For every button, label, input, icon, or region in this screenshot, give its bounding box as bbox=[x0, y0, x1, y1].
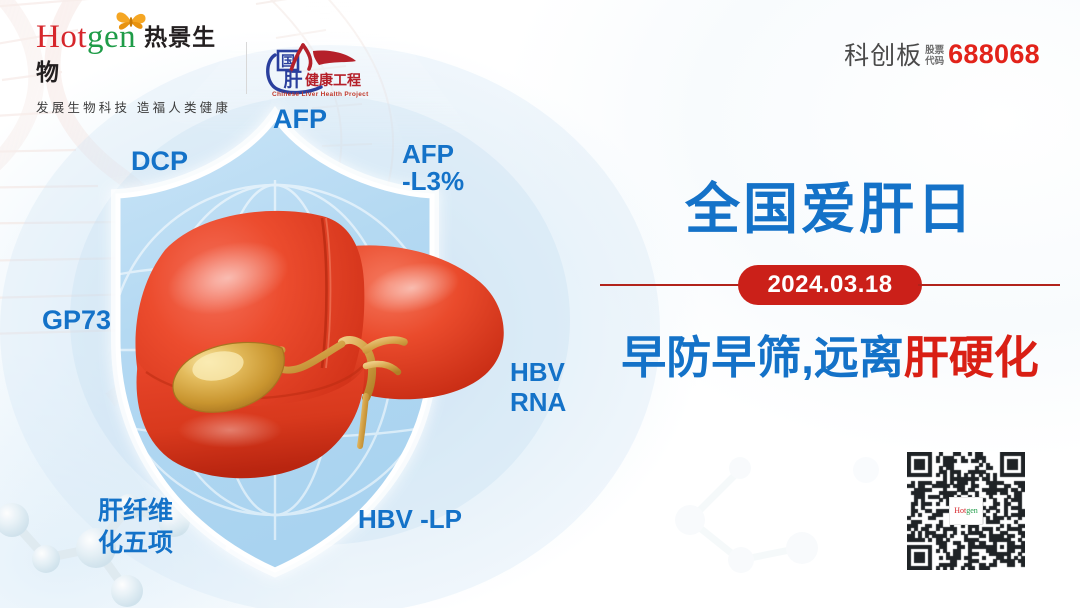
marker-fibrosis-label: 肝纤维 化五项 bbox=[98, 495, 173, 559]
marker-fibrosis-line1: 肝纤维 bbox=[98, 497, 173, 525]
liver-illustration bbox=[135, 211, 503, 478]
liver-highlight-bottom bbox=[178, 412, 282, 448]
brand-slogan: 发展生物科技 造福人类健康 bbox=[36, 97, 236, 116]
date-line-right bbox=[918, 284, 1060, 286]
stock-caption-line2: 代码 bbox=[925, 56, 944, 67]
marker-afp-l3-line1: AFP bbox=[402, 139, 454, 169]
qr-code[interactable]: Hotgen bbox=[907, 452, 1025, 570]
stock-code-caption: 股票 代码 bbox=[925, 42, 944, 67]
hotgen-hot-text: Hot bbox=[36, 19, 87, 55]
partner-logo[interactable]: 国 肝 健康工程 Chinese Liver Health Project bbox=[263, 39, 363, 97]
stock-board-label: 科创板 bbox=[844, 36, 922, 72]
hotgen-logo: Hotgen热景生物 发展生物科技 造福人类健康 bbox=[36, 20, 236, 116]
main-content: 全国爱肝日 2024.03.18 早防早筛,远离肝硬化 bbox=[600, 160, 1060, 420]
liver-health-project-icon: 国 肝 健康工程 bbox=[263, 39, 363, 97]
page-subtitle: 早防早筛,远离肝硬化 bbox=[600, 335, 1060, 380]
date-line-left bbox=[600, 284, 742, 286]
marker-hbv-lp-label: HBV -LP bbox=[358, 505, 462, 534]
date-badge: 2024.03.18 bbox=[738, 265, 922, 305]
qr-logo-hot: Hot bbox=[954, 506, 966, 515]
marker-gp73-label: GP73 bbox=[42, 305, 111, 335]
marker-hbv-rna-label: HBV RNA bbox=[510, 358, 566, 418]
marker-hbv-rna-line2: RNA bbox=[510, 387, 566, 417]
marker-afp-l3-label: AFP -L3% bbox=[402, 141, 464, 196]
marker-hbv-rna-line1: HBV bbox=[510, 357, 565, 387]
logo-divider bbox=[246, 42, 247, 94]
qr-center-logo: Hotgen bbox=[950, 498, 982, 524]
stock-code-number: 688068 bbox=[948, 39, 1040, 70]
page-title: 全国爱肝日 bbox=[600, 182, 1060, 237]
molecule-faint-icon bbox=[675, 457, 879, 573]
brand-logo[interactable]: Hotgen热景生物 发展生物科技 造福人类健康 国 bbox=[36, 20, 363, 116]
svg-text:肝: 肝 bbox=[283, 69, 302, 91]
stock-code-block: 科创板 股票 代码 688068 bbox=[844, 36, 1040, 72]
marker-fibrosis-line2: 化五项 bbox=[98, 529, 173, 557]
marker-dcp-label: DCP bbox=[131, 146, 188, 176]
date-banner: 2024.03.18 bbox=[600, 265, 1060, 305]
poster-root: Hotgen热景生物 发展生物科技 造福人类健康 国 bbox=[0, 0, 1080, 608]
stock-caption-line1: 股票 bbox=[925, 45, 944, 56]
header: Hotgen热景生物 发展生物科技 造福人类健康 国 bbox=[0, 0, 1080, 95]
partner-logo-english: Chinese Liver Health Project bbox=[272, 91, 369, 98]
butterfly-icon bbox=[114, 9, 148, 35]
marker-afp-l3-line2: -L3% bbox=[402, 166, 464, 196]
qr-logo-gen: gen bbox=[966, 506, 978, 515]
subtitle-red-text: 肝硬化 bbox=[904, 332, 1039, 383]
subtitle-blue-text: 早防早筛,远离 bbox=[621, 332, 904, 383]
svg-text:健康工程: 健康工程 bbox=[305, 72, 361, 89]
